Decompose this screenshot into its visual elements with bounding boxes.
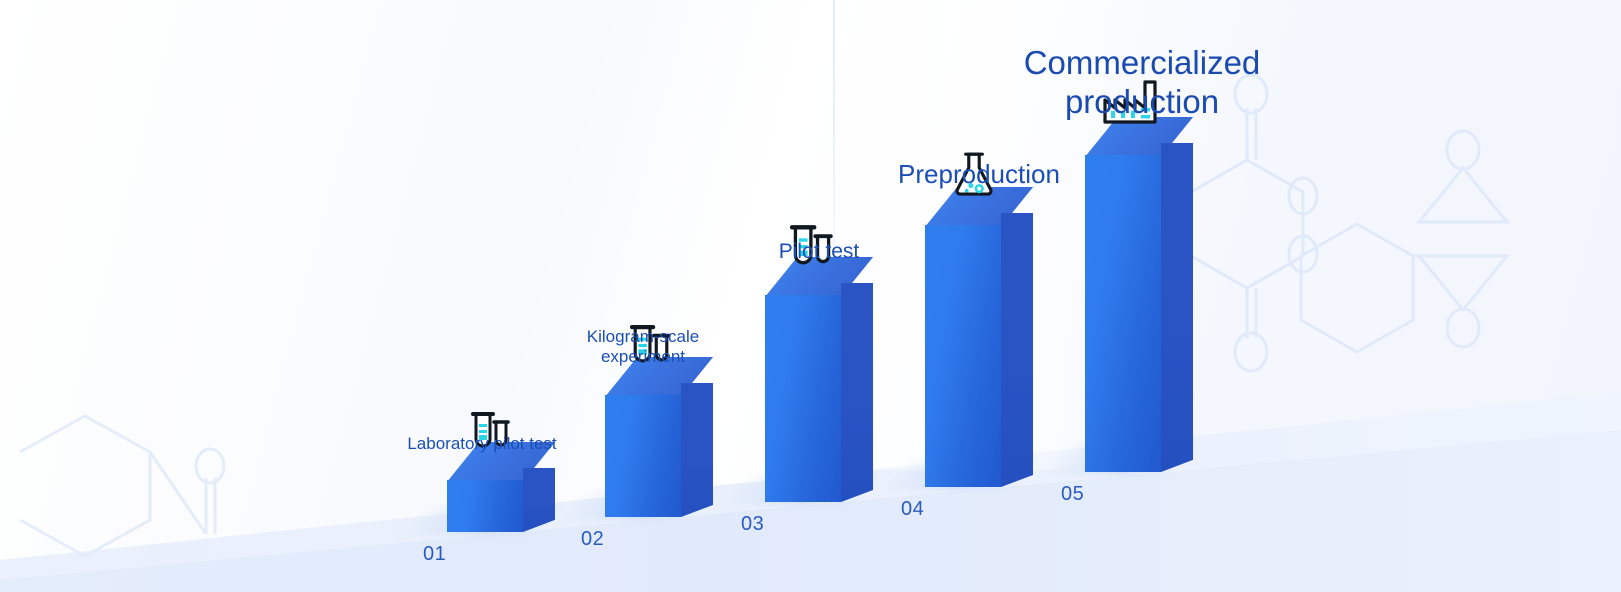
bar-number-01: 01 <box>423 543 446 566</box>
bar-front-face <box>447 480 523 532</box>
bar-front-face <box>925 225 1001 487</box>
bar-side-face <box>681 383 713 517</box>
bar-front-face <box>1085 155 1161 472</box>
bar-number-03: 03 <box>741 513 764 536</box>
bar-number-02: 02 <box>581 528 604 551</box>
bar-group-05[interactable]: 05 Commercialized production <box>1085 117 1205 472</box>
bars-stage: 01 Laboratory pilot test <box>0 0 1621 592</box>
bar-number-04: 04 <box>901 498 924 521</box>
bar-side-face <box>1001 213 1033 487</box>
stage-label-01: Laboratory pilot test <box>332 434 632 454</box>
bar-front-face <box>765 295 841 502</box>
bar-group-01[interactable]: 01 Laboratory pilot test <box>447 442 567 532</box>
bar-side-face <box>523 468 555 532</box>
infographic-canvas: 01 Laboratory pilot test <box>0 0 1621 592</box>
stage-label-03: Pilot test <box>719 240 919 265</box>
bar-side-face <box>841 283 873 502</box>
bar-number-05: 05 <box>1061 483 1084 506</box>
bar-side-face <box>1161 143 1193 472</box>
bar-group-04[interactable]: 04 Preproduction <box>925 187 1045 487</box>
stage-label-04: Preproduction <box>859 159 1099 190</box>
bar-front-face <box>605 395 681 517</box>
stage-label-05: Commercialized production <box>992 44 1292 122</box>
bar-group-02[interactable]: 02 Kilogram-scale experiment <box>605 357 725 517</box>
bar-group-03[interactable]: 03 Pilot test <box>765 257 885 502</box>
stage-label-02: Kilogram-scale experiment <box>548 327 738 367</box>
